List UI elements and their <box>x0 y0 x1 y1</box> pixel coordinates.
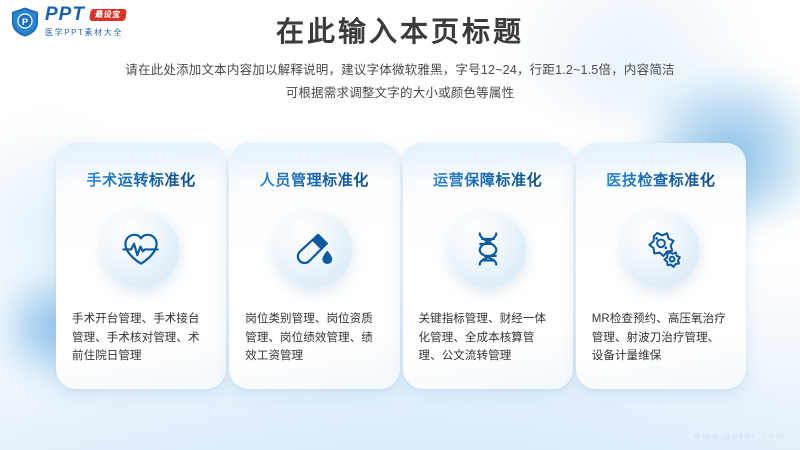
subtitle-line-1: 请在此处添加文本内容加以解释说明，建议字体微软雅黑，字号12~24，行距1.2~… <box>0 59 800 82</box>
card-list: 手术运转标准化 手术开台管理、手术接台管理、手术核对管理、术前住院日管理 人员管… <box>56 143 746 389</box>
page-subtitle: 请在此处添加文本内容加以解释说明，建议字体微软雅黑，字号12~24，行距1.2~… <box>0 59 800 105</box>
card-icon-circle <box>449 210 527 288</box>
card-title: 人员管理标准化 <box>260 169 369 190</box>
card-item[interactable]: 人员管理标准化 岗位类别管理、岗位资质管理、岗位绩效管理、绩效工资管理 <box>229 143 399 389</box>
gears-cells-icon <box>639 227 683 271</box>
card-title: 手术运转标准化 <box>87 169 196 190</box>
card-icon-circle <box>102 210 180 288</box>
card-body: 岗位类别管理、岗位资质管理、岗位绩效管理、绩效工资管理 <box>243 310 385 366</box>
card-item[interactable]: 手术运转标准化 手术开台管理、手术接台管理、手术核对管理、术前住院日管理 <box>56 143 226 389</box>
test-tube-drop-icon <box>292 227 336 271</box>
card-body: 关键指标管理、财经一体化管理、全成本核算管理、公文流转管理 <box>417 310 559 366</box>
watermark: www.ppter.com <box>694 431 786 441</box>
page-title: 在此输入本页标题 <box>0 14 800 49</box>
dna-helix-icon <box>466 227 510 271</box>
card-icon-circle <box>622 210 700 288</box>
subtitle-line-2: 可根据需求调整文字的大小或颜色等属性 <box>0 82 800 105</box>
card-body: MR检查预约、高压氧治疗管理、射波刀治疗管理、设备计量维保 <box>590 310 732 366</box>
card-title: 运营保障标准化 <box>433 169 542 190</box>
card-item[interactable]: 运营保障标准化 关键指标管理、财经一体化管理、全成本核算管理、公文流转管理 <box>403 143 573 389</box>
card-item[interactable]: 医技检查标准化 MR检查预约、高压氧治疗管理、射波刀治疗管理、设备计量维保 <box>576 143 746 389</box>
header: 在此输入本页标题 请在此处添加文本内容加以解释说明，建议字体微软雅黑，字号12~… <box>0 14 800 105</box>
card-body: 手术开台管理、手术接台管理、手术核对管理、术前住院日管理 <box>70 310 212 366</box>
card-icon-circle <box>275 210 353 288</box>
slide-canvas: P PPT 最设宝 医学PPT素材大全 在此输入本页标题 请在此处添加文本内容加… <box>0 0 800 450</box>
card-title: 医技检查标准化 <box>606 169 715 190</box>
heart-pulse-icon <box>119 227 163 271</box>
